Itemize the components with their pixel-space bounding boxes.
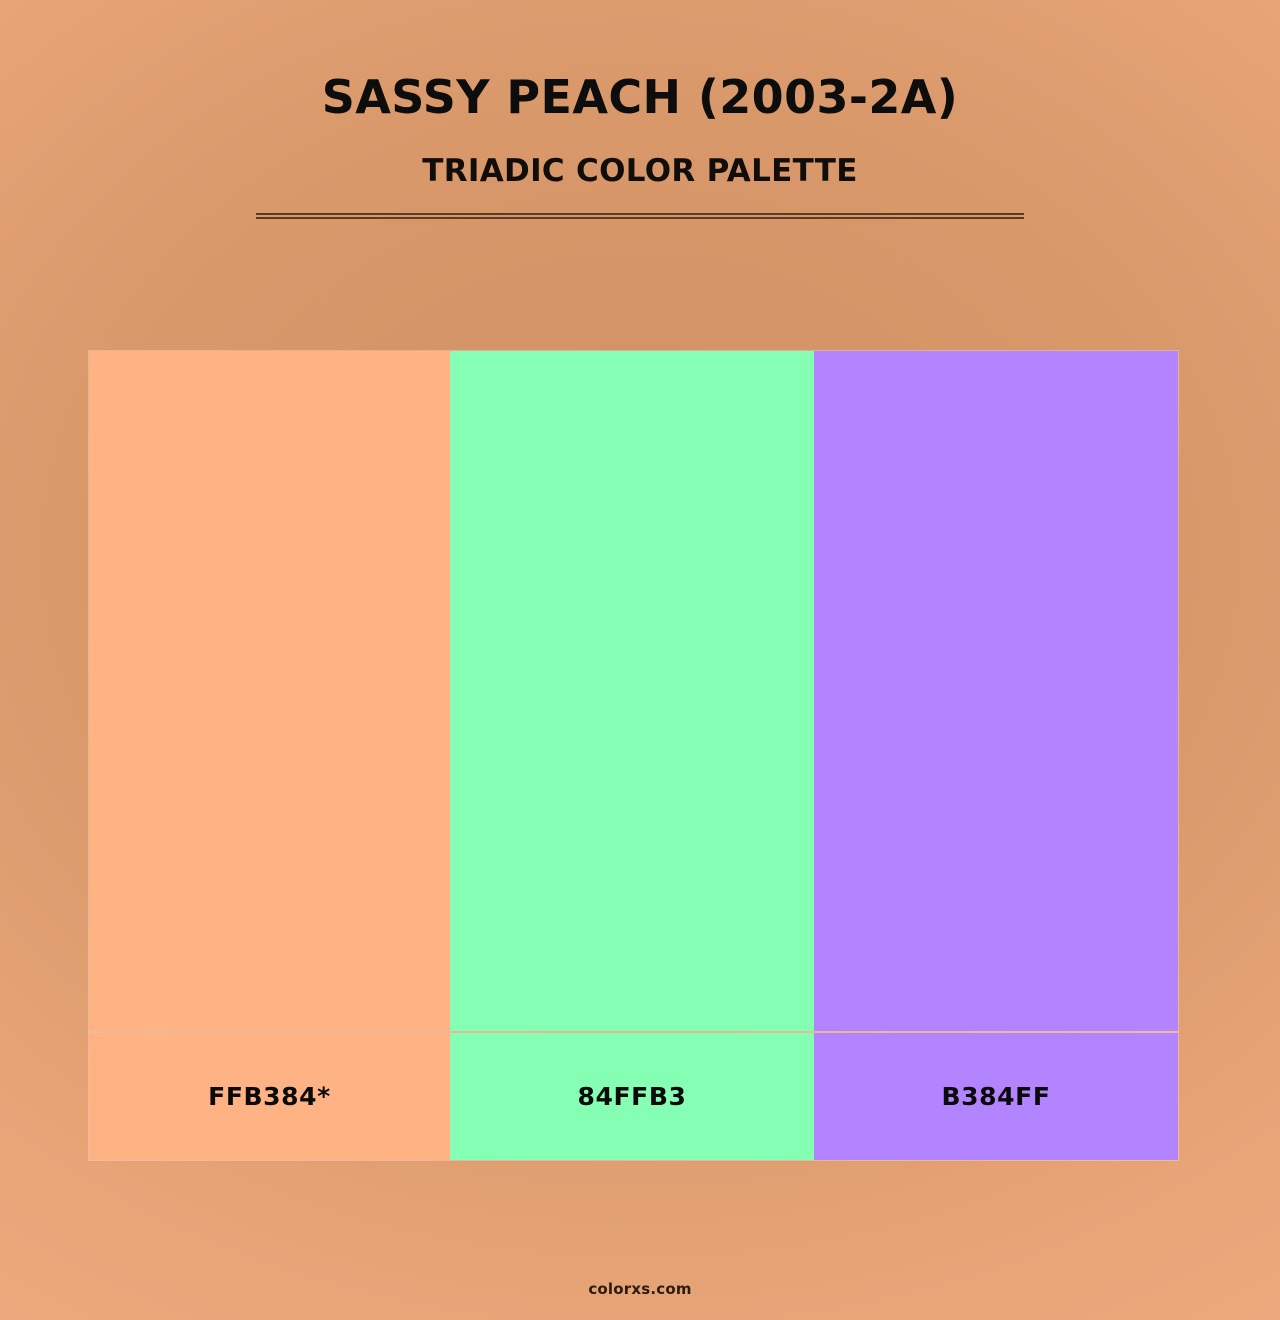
- swatch-row: [89, 351, 1178, 1031]
- hex-code-label: 84FFB3: [578, 1082, 687, 1111]
- color-label-cell[interactable]: B384FF: [814, 1033, 1178, 1160]
- page-title: SASSY PEACH (2003-2A): [0, 72, 1280, 124]
- hex-code-label: FFB384*: [208, 1082, 331, 1111]
- page-subtitle: TRIADIC COLOR PALETTE: [0, 154, 1280, 188]
- site-watermark: colorxs.com: [588, 1280, 691, 1298]
- page-header: SASSY PEACH (2003-2A) TRIADIC COLOR PALE…: [0, 0, 1280, 219]
- color-swatch[interactable]: [89, 351, 450, 1031]
- color-swatch[interactable]: [450, 351, 814, 1031]
- header-divider: [256, 213, 1024, 219]
- page-footer: colorxs.com: [0, 1279, 1280, 1298]
- label-row: FFB384* 84FFB3 B384FF: [89, 1031, 1178, 1160]
- color-label-cell[interactable]: 84FFB3: [450, 1033, 814, 1160]
- hex-code-label: B384FF: [942, 1082, 1051, 1111]
- palette-card: FFB384* 84FFB3 B384FF: [89, 351, 1178, 1160]
- color-swatch[interactable]: [814, 351, 1178, 1031]
- palette-page: SASSY PEACH (2003-2A) TRIADIC COLOR PALE…: [0, 0, 1280, 1320]
- color-label-cell[interactable]: FFB384*: [89, 1033, 450, 1160]
